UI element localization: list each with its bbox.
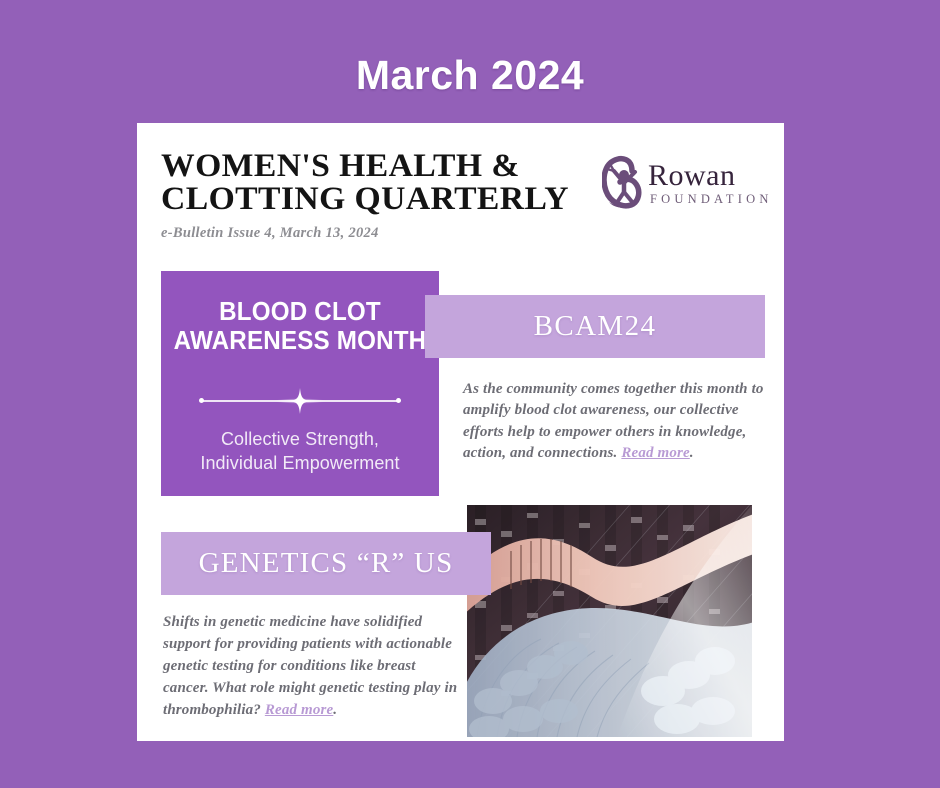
newsletter-card: WOMEN'S HEALTH & CLOTTING QUARTERLY e-Bu…: [137, 123, 784, 741]
newsletter-title-line2: CLOTTING QUARTERLY: [161, 183, 589, 216]
article-banner-bcam24[interactable]: BCAM24: [425, 295, 765, 358]
article-banner-label: BCAM24: [534, 310, 657, 343]
article-body-tail: .: [690, 445, 694, 461]
sparkle-divider-icon: [197, 389, 403, 413]
feature-box-tagline-line2: Individual Empowerment: [171, 452, 429, 476]
read-more-link-genetics[interactable]: Read more: [265, 702, 333, 718]
logo-name: Rowan: [648, 161, 773, 191]
feature-box-title: BLOOD CLOT AWARENESS MONTH: [171, 297, 430, 355]
page-title: March 2024: [0, 52, 940, 99]
article-body-genetics: Shifts in genetic medicine have solidifi…: [163, 611, 463, 721]
article-banner-genetics[interactable]: GENETICS “R” US: [161, 532, 491, 595]
blood-clot-awareness-feature-box: BLOOD CLOT AWARENESS MONTH: [161, 271, 439, 496]
logo-tagline: FOUNDATION: [650, 192, 773, 207]
feature-box-title-line1: BLOOD CLOT: [219, 296, 381, 326]
feature-box-tagline: Collective Strength, Individual Empowerm…: [171, 428, 429, 476]
divider-dot-right: [396, 398, 401, 403]
sparkle-star-icon: [273, 388, 327, 414]
feature-box-title-line2: AWARENESS MONTH: [171, 326, 430, 355]
article-body-bcam24: As the community comes together this mon…: [463, 379, 765, 464]
rowan-foundation-logo[interactable]: Rowan FOUNDATION: [600, 153, 770, 215]
article-body-tail: .: [333, 702, 337, 718]
rowan-figure-icon: [602, 155, 654, 211]
newsletter-subtitle: e-Bulletin Issue 4, March 13, 2024: [161, 225, 761, 242]
feature-box-tagline-line1: Collective Strength,: [221, 429, 379, 449]
article-body-text: As the community comes together this mon…: [463, 381, 764, 461]
read-more-link-bcam24[interactable]: Read more: [621, 445, 689, 461]
divider-dot-left: [199, 398, 204, 403]
article-banner-label: GENETICS “R” US: [199, 547, 454, 580]
dna-double-helix-image: [467, 505, 752, 737]
newsletter-title: WOMEN'S HEALTH & CLOTTING QUARTERLY: [161, 150, 589, 215]
logo-wordmark: Rowan FOUNDATION: [648, 161, 773, 207]
newsletter-title-line1: WOMEN'S HEALTH &: [161, 148, 520, 184]
